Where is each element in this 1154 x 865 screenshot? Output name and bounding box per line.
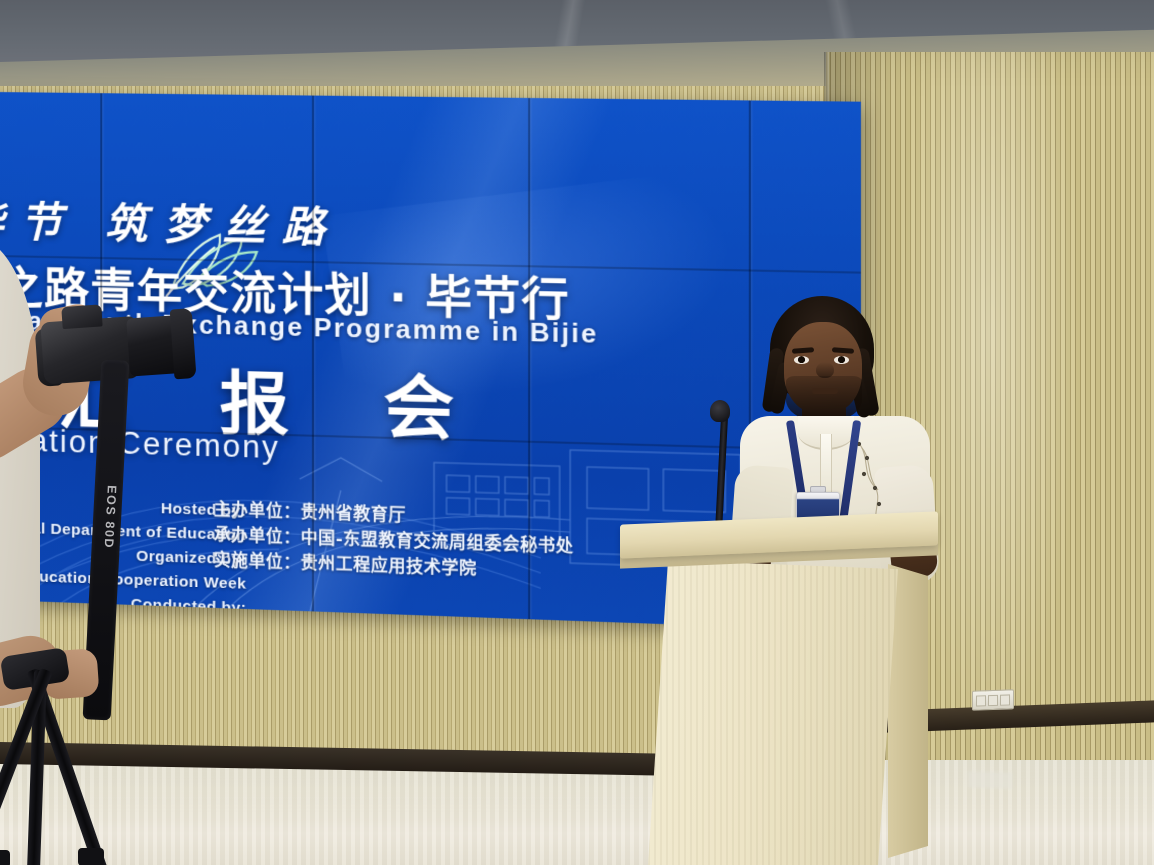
speaker-eye-left <box>794 356 809 364</box>
banner-credits-chinese: 主办单位：贵州省教育厅 承办单位：中国-东盟教育交流周组委会秘书处 实施单位：贵… <box>214 497 566 585</box>
tripod-clamp-left <box>0 850 10 865</box>
socket-switch-1 <box>976 695 986 706</box>
tripod-clamp-right <box>78 848 104 865</box>
camera-pentaprism <box>61 304 102 329</box>
operator-head <box>0 138 1 254</box>
speaker-eye-right <box>834 356 849 364</box>
led-panel-seam-2 <box>312 96 314 612</box>
speaker-mouth <box>812 388 838 394</box>
tripod <box>0 660 190 865</box>
camera-lens-hood <box>170 308 197 379</box>
wall-socket-plate[interactable] <box>972 689 1014 710</box>
socket-switch-2 <box>988 695 998 706</box>
socket-floor-reflection <box>968 771 1012 789</box>
camera-strap-label: EOS 80D <box>101 472 120 563</box>
wooden-podium <box>612 518 960 865</box>
led-panel-seam-3 <box>528 98 530 619</box>
podium-front-panel <box>648 560 898 865</box>
conference-hall-photo: 毕节 筑梦丝路 绸之路青年交流计划 · 毕节行 lk Road Youth Ex… <box>0 0 1154 865</box>
camera-operator: EOS 80D <box>0 120 230 865</box>
socket-switch-3 <box>1000 694 1010 705</box>
